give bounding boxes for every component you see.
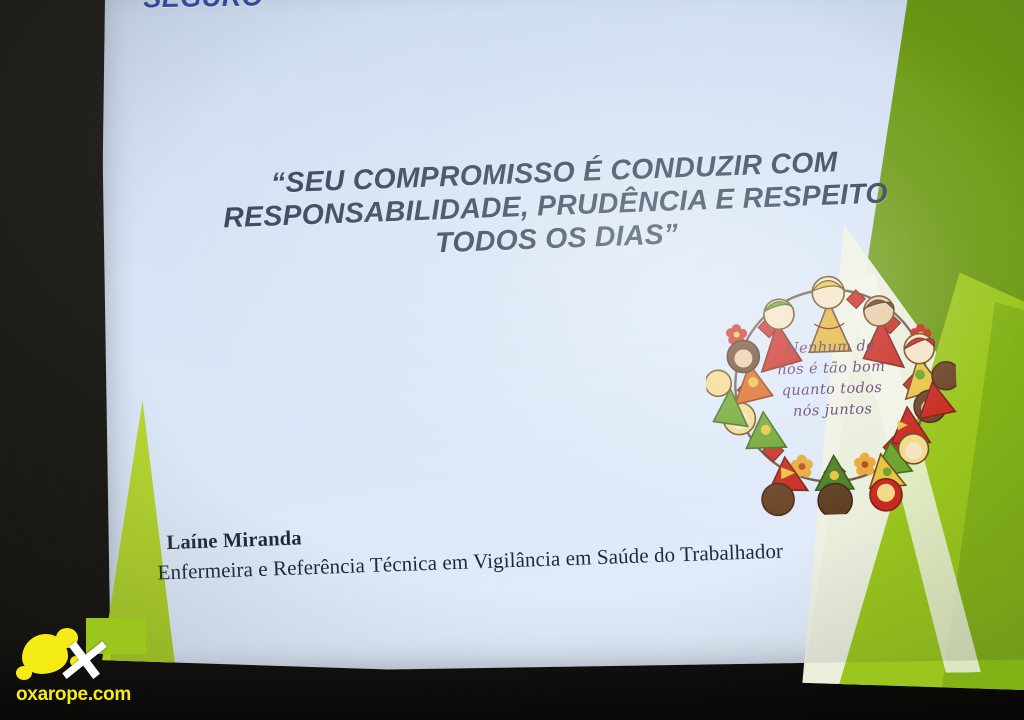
brand-logo: SEGURO <box>135 0 336 21</box>
watermark-x-icon: ✕ <box>42 634 116 690</box>
brand-wordmark: SEGURO <box>143 0 264 14</box>
projection-screen: SEGURO “SEU COMPROMISSO É CONDUZIR COM R… <box>0 0 1024 720</box>
watermark: ✕ oxarope.com <box>8 622 148 710</box>
screenshot-stage: SEGURO “SEU COMPROMISSO É CONDUZIR COM R… <box>0 0 1024 720</box>
speaker-credit: Laíne Miranda Enfermeira e Referência Té… <box>156 506 917 585</box>
watermark-text: oxarope.com <box>16 684 131 706</box>
illustration-caption: Nenhum de nós é tão bom quanto todos nós… <box>763 335 901 423</box>
caption-line-4: nós juntos <box>765 398 901 423</box>
slide-quote: “SEU COMPROMISSO É CONDUZIR COM RESPONSA… <box>194 143 917 269</box>
caption-line-3: quanto todos <box>764 377 900 402</box>
children-circle-illustration: Nenhum de nós é tão bom quanto todos nós… <box>702 255 960 518</box>
watermark-blob-icon-3 <box>16 666 32 680</box>
presentation-slide: SEGURO “SEU COMPROMISSO É CONDUZIR COM R… <box>100 0 1024 674</box>
